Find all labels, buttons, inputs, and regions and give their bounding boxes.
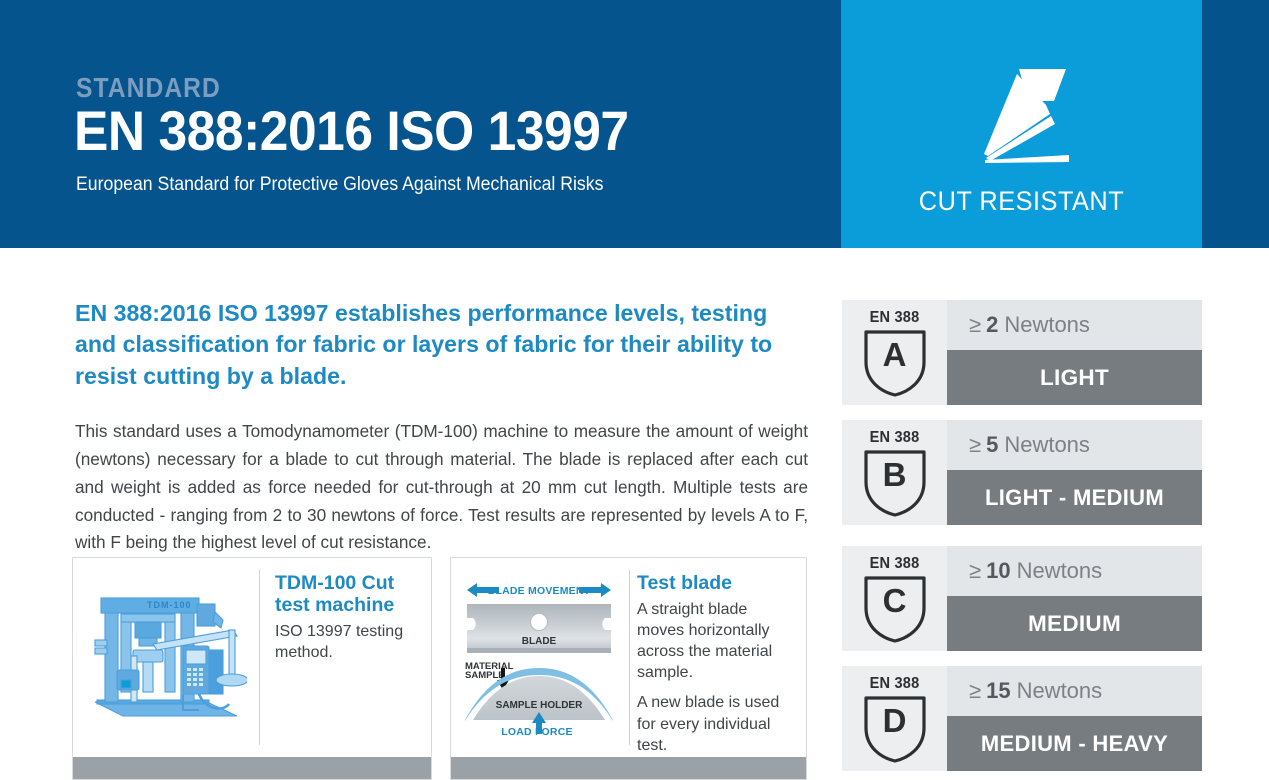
newtons-unit: Newtons bbox=[1017, 558, 1103, 584]
lead-paragraph: EN 388:2016 ISO 13997 establishes perfor… bbox=[75, 298, 804, 392]
rating-category-a: LIGHT bbox=[947, 350, 1202, 405]
newtons-unit: Newtons bbox=[1017, 678, 1103, 704]
rating-category-d: MEDIUM - HEAVY bbox=[947, 716, 1202, 771]
en-388-label: EN 388 bbox=[845, 429, 944, 447]
tdm-figure: TDM-100 bbox=[73, 558, 259, 757]
shield-letter: A bbox=[862, 338, 928, 371]
shield-letter: D bbox=[862, 704, 928, 737]
label-load-force: LOAD FORCE bbox=[451, 726, 623, 738]
en-388-label: EN 388 bbox=[845, 309, 944, 327]
operator-symbol: ≥ bbox=[969, 558, 981, 584]
newtons-value: 5 bbox=[986, 432, 998, 458]
body-paragraph: This standard uses a Tomodynamometer (TD… bbox=[75, 418, 808, 557]
tdm-figure-label: TDM-100 bbox=[147, 600, 192, 610]
shield-icon: A bbox=[862, 328, 928, 398]
header-banner: STANDARD EN 388:2016 ISO 13997 European … bbox=[0, 0, 1269, 248]
badge-label: CUT RESISTANT bbox=[852, 186, 1191, 217]
test-blade-diagram: BLADE MOVEMENT BLADE MATERIAL SAMPLE SAM… bbox=[459, 568, 619, 738]
rating-category-b: LIGHT - MEDIUM bbox=[947, 470, 1202, 525]
newtons-value: 2 bbox=[986, 312, 998, 338]
shield-letter: B bbox=[862, 458, 928, 491]
cut-blade-icon bbox=[962, 58, 1082, 170]
rating-newtons-c: ≥ 10 Newtons bbox=[947, 546, 1202, 596]
test-blade-figure: BLADE MOVEMENT BLADE MATERIAL SAMPLE SAM… bbox=[451, 558, 623, 757]
label-blade-movement: BLADE MOVEMENT bbox=[488, 585, 591, 597]
shield-icon: C bbox=[862, 574, 928, 644]
rating-newtons-d: ≥ 15 Newtons bbox=[947, 666, 1202, 716]
card-footer-bar bbox=[451, 757, 806, 779]
operator-symbol: ≥ bbox=[969, 432, 981, 458]
tdm-100-machine-illustration: TDM-100 bbox=[87, 584, 247, 734]
shield-box-d: EN 388 D bbox=[842, 666, 947, 771]
newtons-value: 10 bbox=[986, 558, 1010, 584]
rating-row-d: EN 388 D ≥ 15 Newtons MEDIUM - HEAVY bbox=[842, 666, 1202, 771]
card-test-blade: BLADE MOVEMENT BLADE MATERIAL SAMPLE SAM… bbox=[450, 557, 807, 780]
body-text: This standard uses a Tomodynamometer (TD… bbox=[75, 418, 808, 557]
shield-letter: C bbox=[862, 584, 928, 617]
card-body-tdm: ISO 13997 testing method. bbox=[275, 621, 419, 663]
label-sample-holder: SAMPLE HOLDER bbox=[496, 700, 583, 711]
card-body-test-blade-1: A straight blade moves horizontally acro… bbox=[637, 599, 794, 683]
standard-subtitle: European Standard for Protective Gloves … bbox=[76, 174, 603, 196]
card-tdm-machine: TDM-100 TDM-100 Cut test machine ISO 139… bbox=[72, 557, 432, 780]
card-title-tdm: TDM-100 Cut test machine bbox=[275, 572, 419, 616]
shield-icon: B bbox=[862, 448, 928, 518]
header-right-edge bbox=[1202, 0, 1269, 248]
label-material-sample-2: SAMPLE bbox=[465, 670, 505, 681]
infographic-page: STANDARD EN 388:2016 ISO 13997 European … bbox=[0, 0, 1269, 780]
standard-title: EN 388:2016 ISO 13997 bbox=[74, 103, 629, 159]
operator-symbol: ≥ bbox=[969, 678, 981, 704]
rating-row-b: EN 388 B ≥ 5 Newtons LIGHT - MEDIUM bbox=[842, 420, 1202, 525]
shield-box-a: EN 388 A bbox=[842, 300, 947, 405]
rating-row-a: EN 388 A ≥ 2 Newtons LIGHT bbox=[842, 300, 1202, 405]
rating-row-c: EN 388 C ≥ 10 Newtons MEDIUM bbox=[842, 546, 1202, 651]
en-388-label: EN 388 bbox=[845, 555, 944, 573]
shield-icon: D bbox=[862, 694, 928, 764]
newtons-value: 15 bbox=[986, 678, 1010, 704]
newtons-unit: Newtons bbox=[1004, 312, 1090, 338]
card-title-test-blade: Test blade bbox=[637, 572, 794, 594]
shield-box-c: EN 388 C bbox=[842, 546, 947, 651]
card-body-test-blade-2: A new blade is used for every individual… bbox=[637, 692, 794, 755]
label-blade: BLADE bbox=[522, 636, 557, 647]
en-388-label: EN 388 bbox=[845, 675, 944, 693]
rating-category-c: MEDIUM bbox=[947, 596, 1202, 651]
rating-newtons-b: ≥ 5 Newtons bbox=[947, 420, 1202, 470]
card-footer-bar bbox=[73, 757, 431, 779]
rating-newtons-a: ≥ 2 Newtons bbox=[947, 300, 1202, 350]
newtons-unit: Newtons bbox=[1004, 432, 1090, 458]
operator-symbol: ≥ bbox=[969, 312, 981, 338]
shield-box-b: EN 388 B bbox=[842, 420, 947, 525]
